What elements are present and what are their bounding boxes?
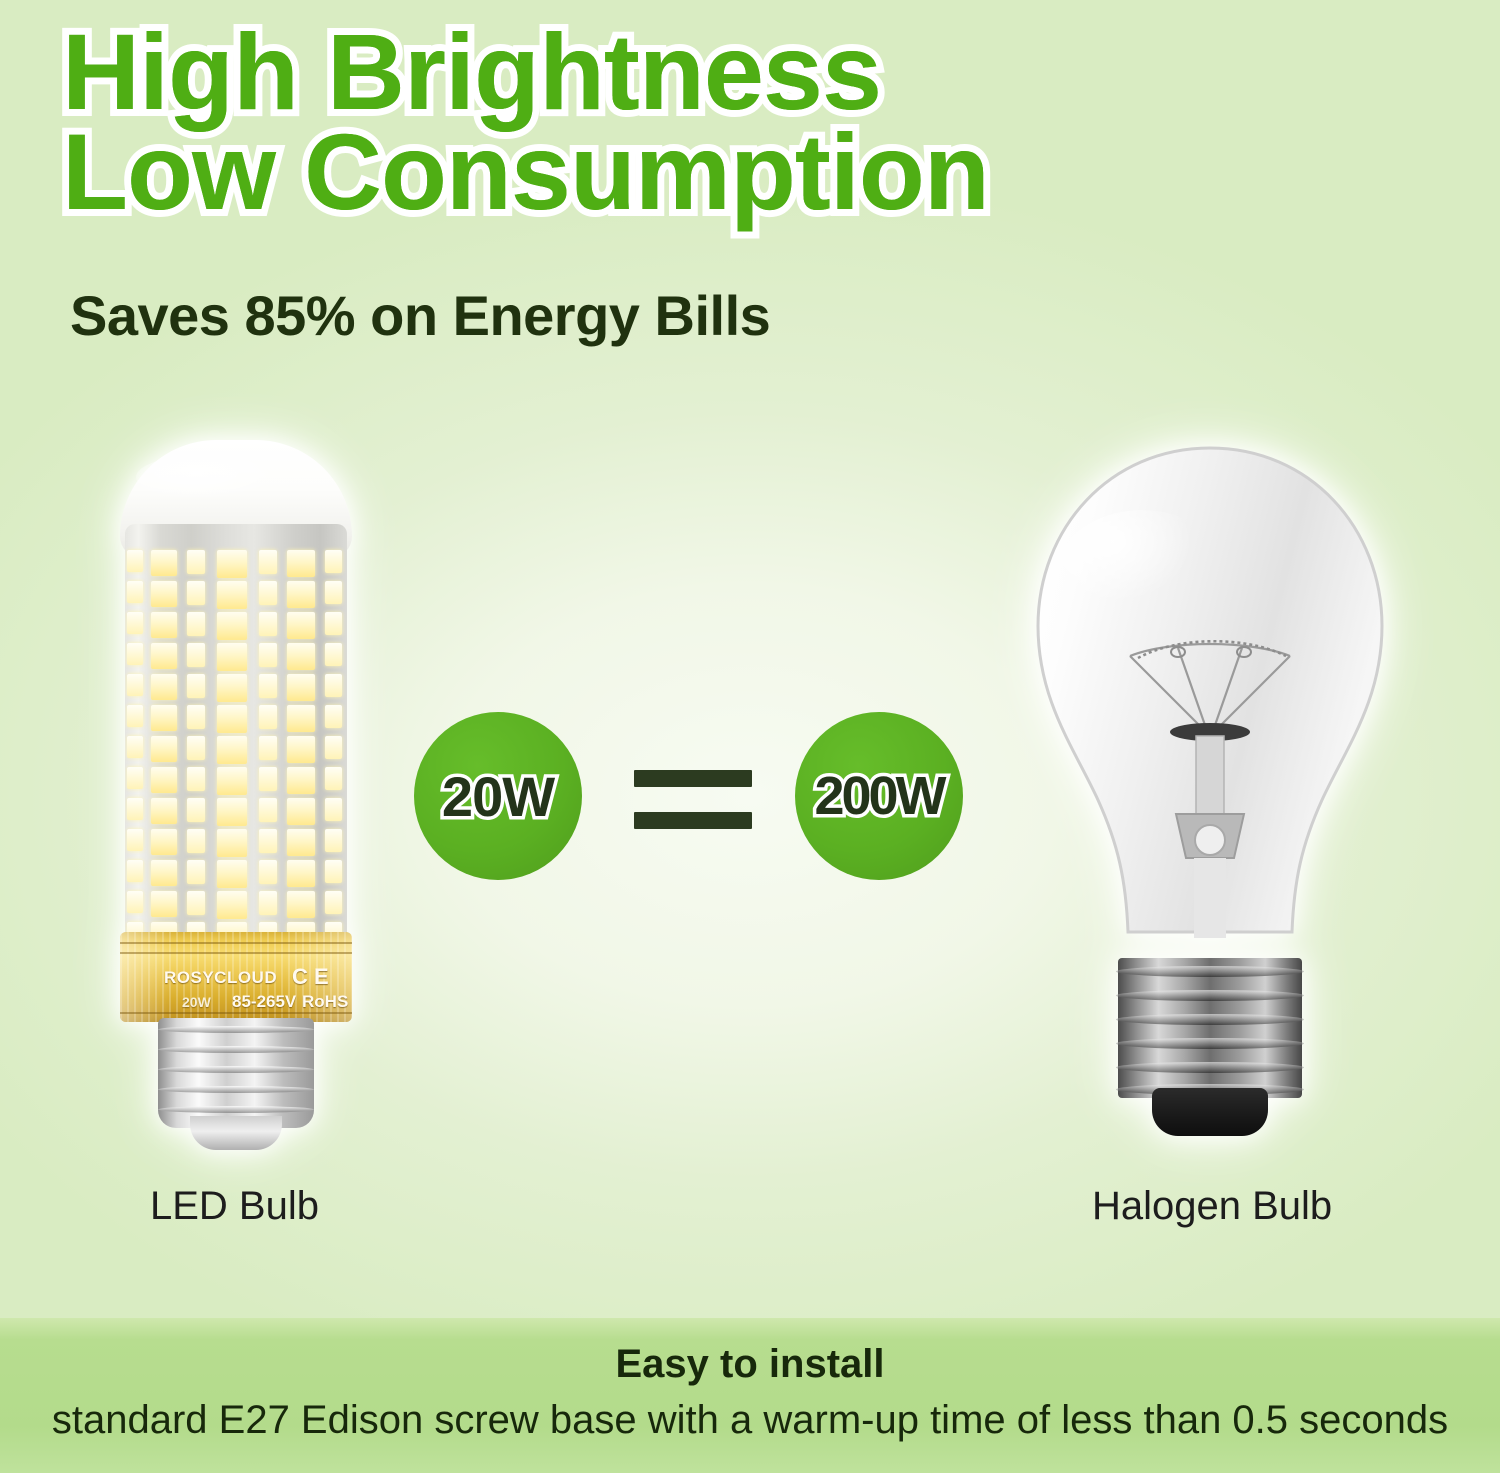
led-chip [187,705,205,729]
led-chip [259,860,277,884]
led-chip [127,581,143,603]
led-chip [217,705,247,733]
subtitle: Saves 85% on Energy Bills [70,283,770,348]
led-wattage-badge: 20W [414,712,582,880]
led-chip [127,612,143,634]
led-chip [217,798,247,826]
led-brand-label: ROSYCLOUD [164,968,277,988]
footer-band: Easy to install standard E27 Edison scre… [0,1318,1500,1473]
led-chip [287,612,315,639]
led-chip [325,798,342,821]
led-wattage-badge-label: 20W [442,764,554,829]
led-chip [127,736,143,758]
halogen-e27-screw-base [1118,958,1302,1098]
led-chip [287,550,315,577]
led-chip [127,643,143,665]
gold-groove [120,952,352,954]
gold-groove [120,942,352,944]
led-chip [151,705,177,731]
led-chip [151,643,177,669]
led-chip [151,829,177,855]
led-chip [127,798,143,820]
led-base-tip [190,1116,282,1150]
led-chip [127,705,143,727]
led-chip [325,581,342,604]
led-chip [151,674,177,700]
led-chip [287,829,315,856]
led-chip [151,798,177,824]
led-chip [151,550,177,576]
led-chip [217,736,247,764]
led-chip [151,860,177,886]
led-chip [217,891,247,919]
led-chip [287,767,315,794]
led-chip [187,612,205,636]
led-chip [127,674,143,696]
led-chip [217,829,247,857]
led-chip [151,767,177,793]
page-title: High Brightness Low Consumption [62,22,1442,223]
halogen-wattage-badge: 200W [795,712,963,880]
halogen-bulb-image [1010,440,1430,1150]
equals-symbol-text: = [634,829,635,830]
led-chip-array [125,524,347,954]
led-chip [127,860,143,882]
led-chip [187,643,205,667]
led-chip [151,581,177,607]
led-chip [187,674,205,698]
led-voltage-label: 85-265V [232,992,296,1012]
led-chip [217,550,247,578]
led-chip [287,705,315,732]
led-chip [325,550,342,573]
led-chip [287,736,315,763]
led-chip [151,736,177,762]
led-chip [187,736,205,760]
led-chip [217,674,247,702]
led-chip [259,581,277,605]
ce-mark-icon: C E [292,964,329,990]
gold-groove [120,1012,352,1014]
led-chip [187,550,205,574]
led-chip [259,891,277,915]
halogen-wattage-badge-label: 200W [814,765,943,827]
led-bulb-caption: LED Bulb [150,1184,319,1229]
led-chip [217,860,247,888]
led-chip [259,612,277,636]
equals-icon: = [634,770,752,829]
footer-text: standard E27 Edison screw base with a wa… [0,1398,1500,1443]
led-chip [259,674,277,698]
led-chip [325,705,342,728]
led-chip [217,767,247,795]
led-chip [187,798,205,822]
led-chip [259,705,277,729]
led-chip [217,581,247,609]
led-bulb-image: ROSYCLOUD C E 20W 85-265V RoHS [96,440,376,1140]
led-chip [151,612,177,638]
led-bulb-base-collar: ROSYCLOUD C E 20W 85-265V RoHS [120,932,352,1022]
led-chip [259,550,277,574]
led-chip [259,798,277,822]
halogen-glass-envelope [1010,440,1410,1000]
led-chip [287,891,315,918]
led-chip [259,829,277,853]
led-chip [287,643,315,670]
rohs-mark-icon: RoHS [302,992,348,1012]
led-chip [287,674,315,701]
led-chip [217,643,247,671]
led-chip [259,643,277,667]
led-chip [287,798,315,825]
led-chip [325,767,342,790]
led-chip [127,550,143,572]
led-chip [325,674,342,697]
led-chip [325,860,342,883]
footer-heading: Easy to install [0,1342,1500,1387]
led-chip [325,612,342,635]
led-chip [127,767,143,789]
led-chip [259,767,277,791]
led-chip [287,860,315,887]
led-chip [127,829,143,851]
led-chip [325,829,342,852]
led-chip [151,891,177,917]
halogen-base-tip [1152,1088,1268,1136]
led-chip [127,891,143,913]
led-e27-screw-base [158,1018,314,1128]
led-chip [187,767,205,791]
led-chip [325,891,342,914]
led-chip [325,643,342,666]
led-chip [187,891,205,915]
led-chip [187,860,205,884]
led-chip [287,581,315,608]
led-chip [325,736,342,759]
led-chip [187,829,205,853]
halogen-bulb-caption: Halogen Bulb [1092,1184,1332,1229]
led-chip [259,736,277,760]
product-infographic: High Brightness Low Consumption High Bri… [0,0,1500,1473]
led-chip [187,581,205,605]
led-chip [217,612,247,640]
led-wattage-label: 20W [182,994,211,1010]
